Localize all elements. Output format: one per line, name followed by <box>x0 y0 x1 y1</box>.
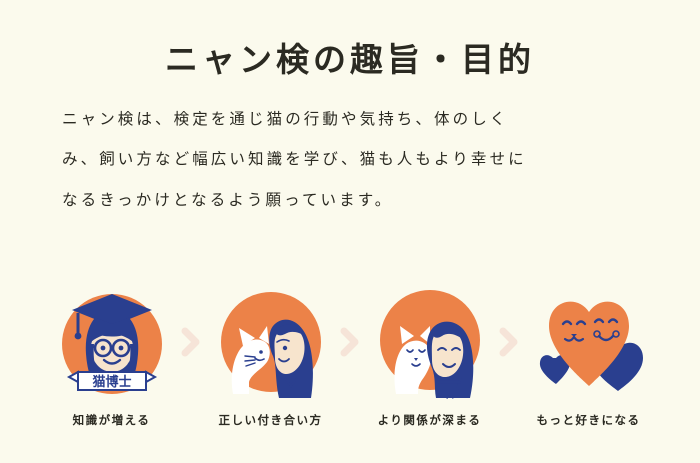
chevron-right-icon-1 <box>178 286 204 398</box>
page-title: ニャン検の趣旨・目的 <box>0 38 700 83</box>
step-label-bond: より関係が深まる <box>378 412 482 428</box>
step-label-knowledge: 知識が増える <box>73 412 151 428</box>
cat-and-woman-smiling-icon <box>374 286 486 398</box>
step-label-love: もっと好きになる <box>537 412 641 428</box>
steps-row: 猫博士 知識が増える <box>0 286 700 428</box>
cat-and-woman-facing-icon <box>215 286 327 398</box>
intro-paragraph: ニャン検は、検定を通じ猫の行動や気持ち、体のしく み、飼い方など幅広い知識を学び… <box>62 100 662 221</box>
step-item-love: もっと好きになる <box>522 286 655 428</box>
graduate-cat-doctor-icon: 猫博士 <box>56 286 168 398</box>
step-item-bond: より関係が深まる <box>363 286 496 428</box>
step-label-relationship: 正しい付き合い方 <box>219 412 323 428</box>
chevron-right-icon-2 <box>337 286 363 398</box>
page-root: ニャン検の趣旨・目的 ニャン検は、検定を通じ猫の行動や気持ち、体のしく み、飼い… <box>0 0 700 463</box>
chevron-right-icon-3 <box>496 286 522 398</box>
step-item-relationship: 正しい付き合い方 <box>204 286 337 428</box>
smiling-hearts-icon <box>533 286 645 398</box>
badge-text: 猫博士 <box>92 374 131 389</box>
step-item-knowledge: 猫博士 知識が増える <box>45 286 178 428</box>
